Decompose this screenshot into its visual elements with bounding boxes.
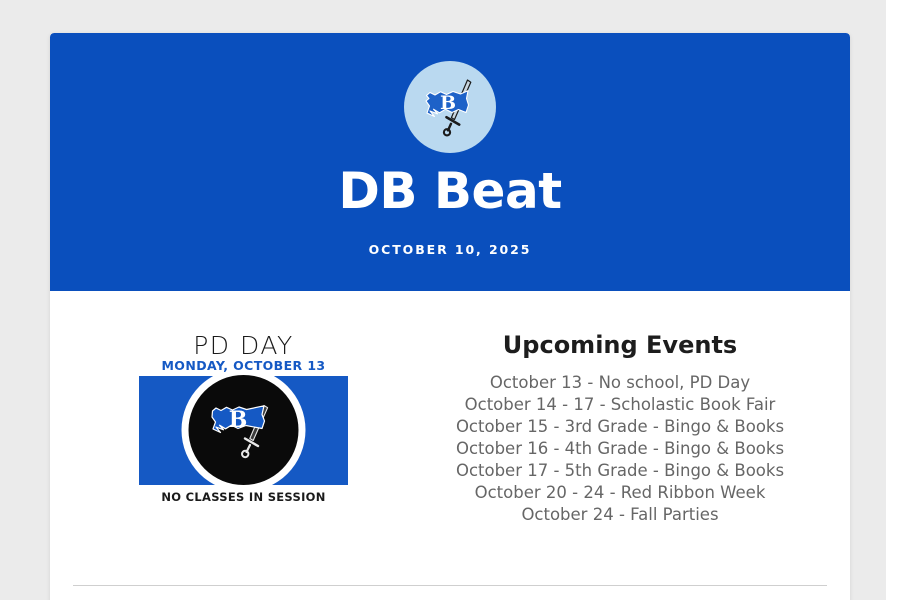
list-item: October 20 - 24 - Red Ribbon Week bbox=[413, 482, 827, 504]
upcoming-events-section: Upcoming Events October 13 - No school, … bbox=[413, 323, 827, 526]
page-scrollbar-track[interactable] bbox=[886, 0, 900, 600]
list-item: October 17 - 5th Grade - Bingo & Books bbox=[413, 460, 827, 482]
list-item: October 16 - 4th Grade - Bingo & Books bbox=[413, 438, 827, 460]
logo-letter: B bbox=[440, 92, 456, 114]
list-item: October 15 - 3rd Grade - Bingo & Books bbox=[413, 416, 827, 438]
newsletter-date: OCTOBER 10, 2025 bbox=[50, 242, 850, 257]
newsletter-viewport[interactable]: B DB Beat OCTOBER 10, 2025 PD DAY MONDAY… bbox=[0, 0, 886, 600]
db-school-flag-logo-icon: B bbox=[404, 61, 496, 153]
list-item: October 24 - Fall Parties bbox=[413, 504, 827, 526]
media-column: PD DAY MONDAY, OCTOBER 13 bbox=[73, 323, 413, 509]
page-title: DB Beat bbox=[50, 165, 850, 218]
list-item: October 13 - No school, PD Day bbox=[413, 372, 827, 394]
pd-day-title: PD DAY bbox=[193, 331, 294, 360]
upcoming-events-heading: Upcoming Events bbox=[413, 331, 827, 359]
list-item: October 14 - 17 - Scholastic Book Fair bbox=[413, 394, 827, 416]
below-divider-space bbox=[73, 586, 827, 600]
newsletter-body: PD DAY MONDAY, OCTOBER 13 bbox=[50, 291, 850, 600]
newsletter-header: B DB Beat OCTOBER 10, 2025 bbox=[50, 33, 850, 291]
pd-day-logo-letter: B bbox=[228, 407, 247, 433]
content-row: PD DAY MONDAY, OCTOBER 13 bbox=[73, 309, 827, 526]
newsletter-card: B DB Beat OCTOBER 10, 2025 PD DAY MONDAY… bbox=[50, 33, 850, 600]
pd-day-flyer-image: PD DAY MONDAY, OCTOBER 13 bbox=[139, 329, 348, 509]
upcoming-events-list: October 13 - No school, PD Day October 1… bbox=[413, 372, 827, 526]
pd-day-footer: NO CLASSES IN SESSION bbox=[161, 490, 325, 504]
pd-day-subtitle: MONDAY, OCTOBER 13 bbox=[161, 358, 325, 373]
